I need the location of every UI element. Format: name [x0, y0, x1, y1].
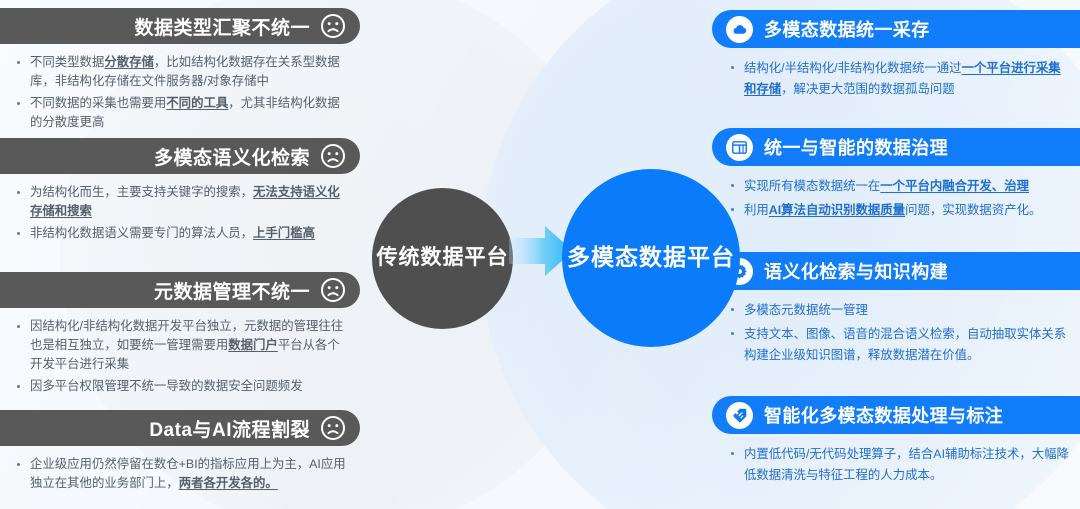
solution-card-header: 多模态数据统一采存	[712, 10, 1080, 48]
circle-label-line: 多模态数据	[567, 243, 687, 272]
multimodal-platform-circle: 多模态数据平台	[562, 169, 740, 347]
plain-text: 为结构化而生，主要支持关键字的搜索，	[30, 185, 253, 199]
problem-card-header: 数据类型汇聚不统一	[0, 8, 360, 44]
problem-bullet: 非结构化数据语义需要专门的算法人员，上手门槛高	[14, 224, 352, 243]
problem-card-title: 数据类型汇聚不统一	[134, 13, 310, 40]
solution-bullet: 多模态元数据统一管理	[728, 300, 1072, 321]
solution-card: 统一与智能的数据治理实现所有模态数据统一在一个平台内融合开发、治理利用AI算法自…	[712, 128, 1080, 224]
legacy-platform-circle: 传统数据平台	[372, 188, 513, 329]
problem-bullet: 不同类型数据分散存储，比如结构化数据存在关系型数据库，非结构化存储在文件服务器/…	[14, 53, 352, 91]
solution-bullet: 结构化/半结构化/非结构化数据统一通过一个平台进行采集和存储，解决更大范围的数据…	[728, 58, 1072, 100]
problem-bullet: 因多平台权限管理不统一导致的数据安全问题频发	[14, 377, 352, 396]
plain-text: 多模态元数据统一管理	[744, 303, 868, 317]
problem-bullet-list: 企业级应用仍然停留在数仓+BI的指标应用上为主，AI应用独立在其他的业务部门上，…	[0, 446, 368, 493]
table-grid-icon	[726, 134, 753, 161]
solution-card-title: 智能化多模态数据处理与标注	[764, 402, 1003, 428]
tag-icon	[726, 402, 753, 429]
solution-card-title: 语义化检索与知识构建	[764, 258, 948, 284]
solution-card-header: 智能化多模态数据处理与标注	[712, 396, 1080, 434]
emphasis-text: 分散存储	[104, 55, 154, 69]
solution-bullet: 支持文本、图像、语音的混合语义检索，自动抽取实体关系构建企业级知识图谱，释放数据…	[728, 324, 1072, 366]
problem-card: 数据类型汇聚不统一不同类型数据分散存储，比如结构化数据存在关系型数据库，非结构化…	[0, 8, 368, 135]
problem-bullet: 为结构化而生，主要支持关键字的搜索，无法支持语义化存储和搜索	[14, 183, 352, 221]
problem-bullet-list: 因结构化/非结构化数据开发平台独立，元数据的管理往往也是相互独立，如要统一管理需…	[0, 308, 368, 396]
cloud-icon	[726, 16, 753, 43]
plain-text: 实现所有模态数据统一在	[744, 179, 880, 193]
solution-bullet-list: 内置低代码/无代码处理算子，结合AI辅助标注技术，大幅降低数据清洗与特征工程的人…	[712, 434, 1080, 486]
solution-card: 语义化检索与知识构建多模态元数据统一管理支持文本、图像、语音的混合语义检索，自动…	[712, 252, 1080, 369]
solution-card-title: 统一与智能的数据治理	[764, 134, 948, 160]
problem-card: 多模态语义化检索为结构化而生，主要支持关键字的搜索，无法支持语义化存储和搜索非结…	[0, 138, 368, 246]
plain-text: 不同数据的采集也需要用	[30, 96, 166, 110]
sad-face-icon	[320, 13, 346, 39]
solution-card: 多模态数据统一采存结构化/半结构化/非结构化数据统一通过一个平台进行采集和存储，…	[712, 10, 1080, 103]
solutions-column: 多模态数据统一采存结构化/半结构化/非结构化数据统一通过一个平台进行采集和存储，…	[712, 0, 1080, 509]
plain-text: 内置低代码/无代码处理算子，结合AI辅助标注技术，大幅降低数据清洗与特征工程的人…	[744, 447, 1069, 482]
emphasis-text: AI算法自动识别数据质量	[769, 203, 905, 217]
problems-column: 数据类型汇聚不统一不同类型数据分散存储，比如结构化数据存在关系型数据库，非结构化…	[0, 0, 368, 509]
plain-text: 因多平台权限管理不统一导致的数据安全问题频发	[30, 379, 303, 393]
problem-card-title: Data与AI流程割裂	[149, 415, 310, 442]
emphasis-text: 上手门槛高	[253, 226, 315, 240]
solution-bullet-list: 多模态元数据统一管理支持文本、图像、语音的混合语义检索，自动抽取实体关系构建企业…	[712, 290, 1080, 366]
plain-text: 不同类型数据	[30, 55, 104, 69]
problem-card-header: 元数据管理不统一	[0, 272, 360, 308]
plain-text: 支持文本、图像、语音的混合语义检索，自动抽取实体关系构建企业级知识图谱，释放数据…	[744, 327, 1066, 362]
emphasis-text: 两者各开发各的。	[179, 476, 278, 490]
problem-bullet: 企业级应用仍然停留在数仓+BI的指标应用上为主，AI应用独立在其他的业务部门上，…	[14, 455, 352, 493]
solution-bullet-list: 实现所有模态数据统一在一个平台内融合开发、治理利用AI算法自动识别数据质量问题，…	[712, 166, 1080, 221]
problem-bullet-list: 为结构化而生，主要支持关键字的搜索，无法支持语义化存储和搜索非结构化数据语义需要…	[0, 174, 368, 243]
solution-card: 智能化多模态数据处理与标注内置低代码/无代码处理算子，结合AI辅助标注技术，大幅…	[712, 396, 1080, 489]
solution-bullet: 实现所有模态数据统一在一个平台内融合开发、治理	[728, 176, 1072, 197]
solution-bullet: 内置低代码/无代码处理算子，结合AI辅助标注技术，大幅降低数据清洗与特征工程的人…	[728, 444, 1072, 486]
solution-bullet-list: 结构化/半结构化/非结构化数据统一通过一个平台进行采集和存储，解决更大范围的数据…	[712, 48, 1080, 100]
plain-text: 非结构化数据语义需要专门的算法人员，	[30, 226, 253, 240]
plain-text: 利用	[744, 203, 769, 217]
solution-bullet: 利用AI算法自动识别数据质量问题，实现数据资产化。	[728, 200, 1072, 221]
circle-label-line: 平台	[687, 243, 735, 272]
emphasis-text: 一个平台内融合开发、治理	[880, 179, 1029, 193]
plain-text: ，解决更大范围的数据孤岛问题	[781, 82, 954, 96]
solution-card-header: 统一与智能的数据治理	[712, 128, 1080, 166]
infographic-canvas: 数据类型汇聚不统一不同类型数据分散存储，比如结构化数据存在关系型数据库，非结构化…	[0, 0, 1080, 509]
problem-card-title: 多模态语义化检索	[154, 143, 310, 170]
circle-label-line: 平台	[465, 245, 509, 272]
emphasis-text: 不同的工具	[166, 96, 228, 110]
sad-face-icon	[320, 415, 346, 441]
solution-card-header: 语义化检索与知识构建	[712, 252, 1080, 290]
problem-card: 元数据管理不统一因结构化/非结构化数据开发平台独立，元数据的管理往往也是相互独立…	[0, 272, 368, 399]
plain-text: 问题，实现数据资产化。	[905, 203, 1041, 217]
sad-face-icon	[320, 143, 346, 169]
problem-bullet: 因结构化/非结构化数据开发平台独立，元数据的管理往往也是相互独立，如要统一管理需…	[14, 317, 352, 374]
plain-text: 结构化/半结构化/非结构化数据统一通过	[744, 61, 962, 75]
problem-card-title: 元数据管理不统一	[154, 277, 310, 304]
sad-face-icon	[320, 277, 346, 303]
circle-label-line: 传统数据	[377, 245, 465, 272]
problem-bullet: 不同数据的采集也需要用不同的工具，尤其非结构化数据的分散度更高	[14, 94, 352, 132]
problem-bullet-list: 不同类型数据分散存储，比如结构化数据存在关系型数据库，非结构化存储在文件服务器/…	[0, 44, 368, 132]
problem-card-header: Data与AI流程割裂	[0, 410, 360, 446]
problem-card-header: 多模态语义化检索	[0, 138, 360, 174]
emphasis-text: 数据门户	[228, 338, 278, 352]
solution-card-title: 多模态数据统一采存	[764, 16, 930, 42]
problem-card: Data与AI流程割裂企业级应用仍然停留在数仓+BI的指标应用上为主，AI应用独…	[0, 410, 368, 496]
